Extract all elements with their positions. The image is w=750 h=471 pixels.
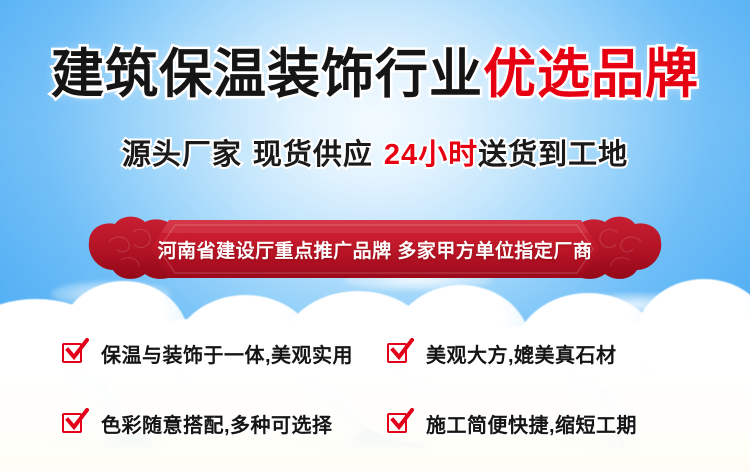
headline-accent: 优选品牌 — [483, 45, 699, 104]
sub-headline: 源头厂家现货供应24小时送货到工地 — [0, 141, 750, 170]
check-mark-icon — [65, 408, 89, 432]
feature-item-4: 施工简便快捷,缩短工期 — [387, 388, 702, 458]
feature-item-3: 色彩随意搭配,多种可选择 — [62, 388, 377, 458]
checkbox-checked-icon — [62, 341, 86, 365]
feature-item-1: 保温与装饰于一体,美观实用 — [62, 318, 377, 388]
feature-item-2: 美观大方,媲美真石材 — [387, 318, 702, 388]
subheadline-part1: 源头厂家 — [122, 139, 242, 171]
headline-main: 建筑保温装饰行业 — [51, 45, 483, 104]
check-mark-icon — [65, 338, 89, 362]
promo-banner: 建筑保温装饰行业优选品牌 源头厂家现货供应24小时送货到工地 — [0, 0, 750, 471]
ribbon-label: 河南省建设厅重点推广品牌 多家甲方单位指定厂商 — [83, 236, 667, 263]
subheadline-part3: 送货到工地 — [478, 139, 628, 171]
subheadline-part2: 现货供应 — [253, 139, 373, 171]
subheadline-accent: 24小时 — [384, 139, 478, 171]
endorsement-ribbon: 河南省建设厅重点推广品牌 多家甲方单位指定厂商 — [83, 212, 667, 286]
feature-label: 色彩随意搭配,多种可选择 — [101, 409, 333, 438]
checkbox-checked-icon — [387, 411, 411, 435]
checkbox-checked-icon — [62, 411, 86, 435]
feature-label: 保温与装饰于一体,美观实用 — [101, 339, 353, 368]
checkbox-checked-icon — [387, 341, 411, 365]
check-mark-icon — [390, 408, 414, 432]
feature-list: 保温与装饰于一体,美观实用 美观大方,媲美真石材 色彩随意搭配,多种可选择 — [62, 318, 702, 458]
feature-label: 施工简便快捷,缩短工期 — [426, 409, 637, 438]
page-title: 建筑保温装饰行业优选品牌 — [0, 48, 750, 101]
feature-label: 美观大方,媲美真石材 — [426, 339, 617, 368]
check-mark-icon — [390, 338, 414, 362]
